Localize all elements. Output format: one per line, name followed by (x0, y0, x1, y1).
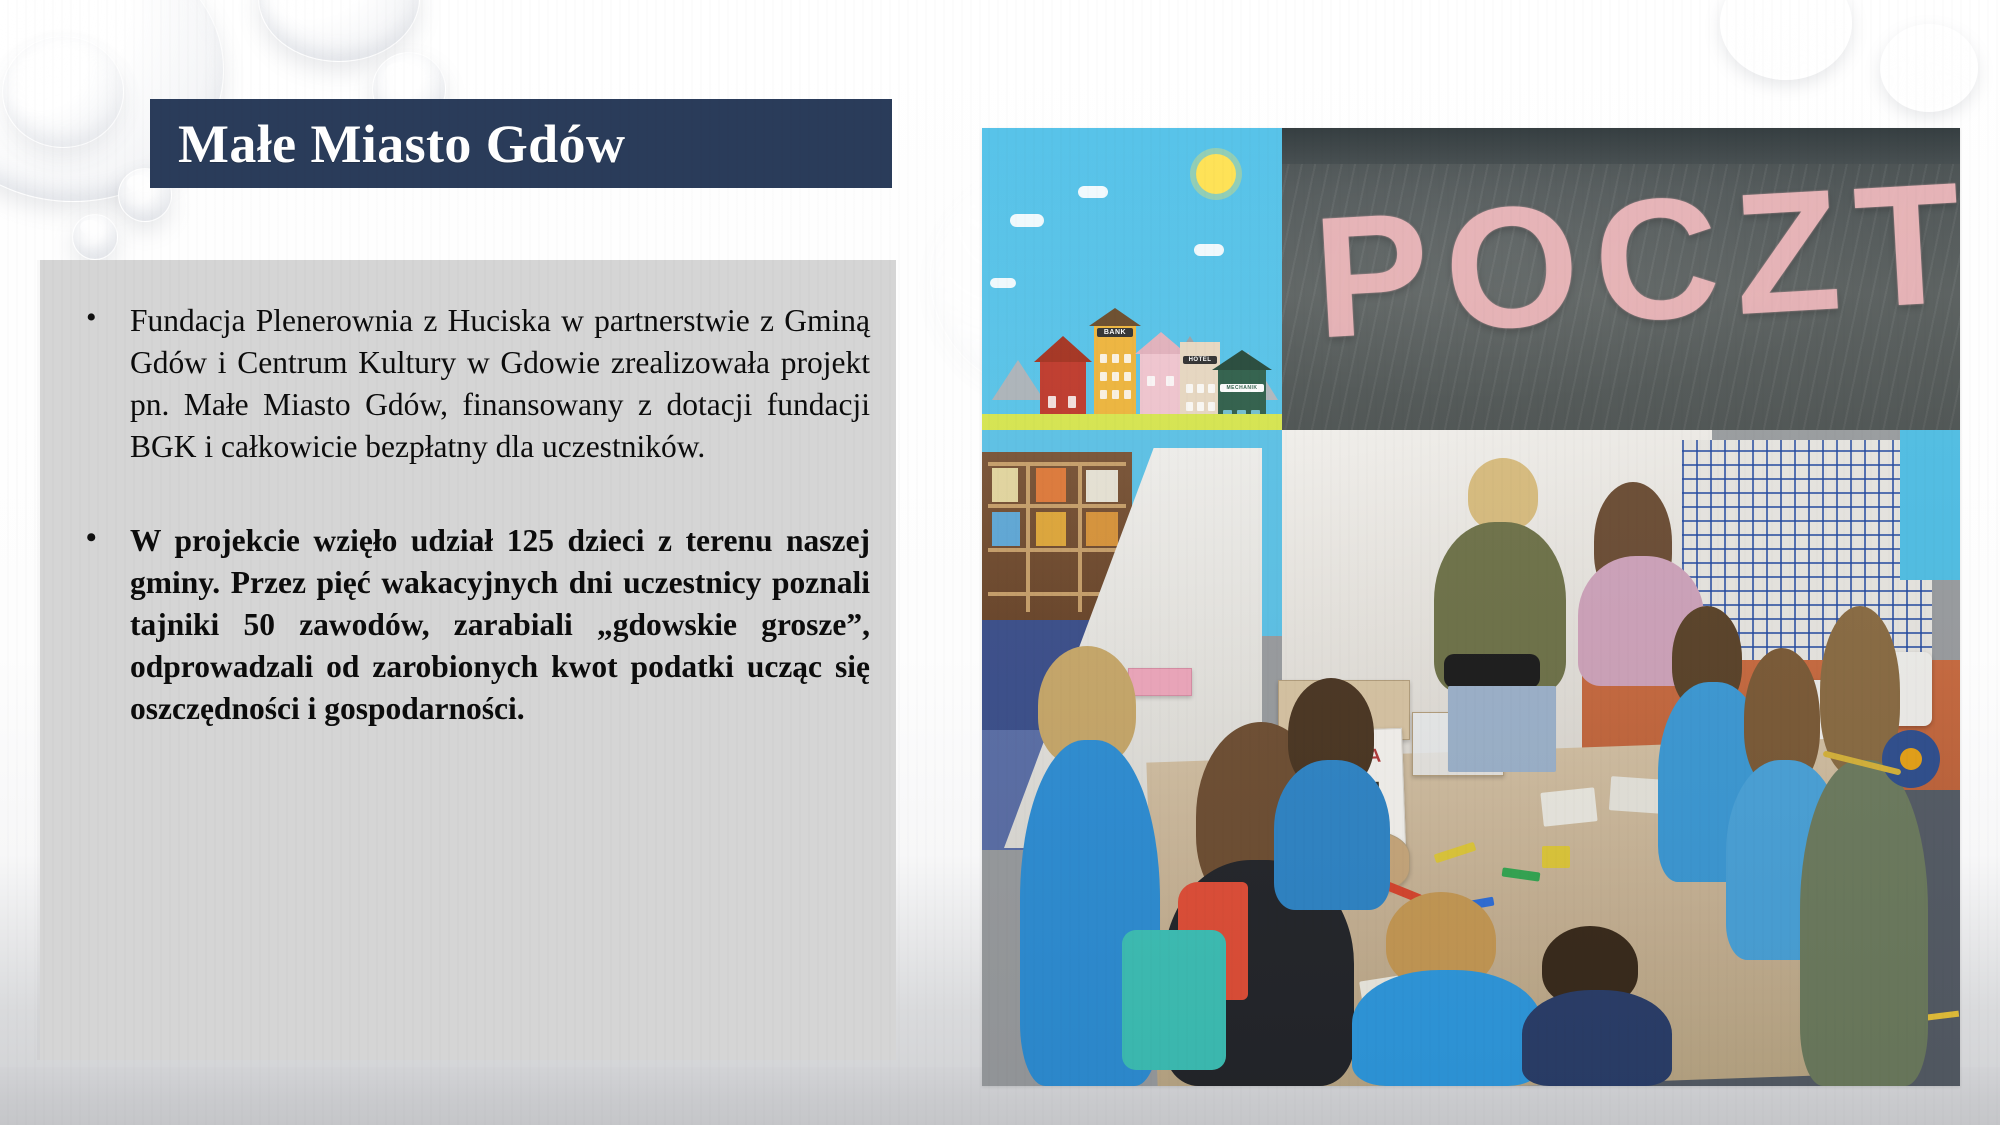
bubble-decoration (1720, 0, 1852, 80)
cloud-icon (1078, 186, 1108, 198)
person-child-olive (1800, 760, 1928, 1086)
list-item: Fundacja Plenerownia z Huciska w partner… (70, 300, 870, 468)
bullet-list: Fundacja Plenerownia z Huciska w partner… (40, 260, 896, 730)
content-panel: Fundacja Plenerownia z Huciska w partner… (40, 260, 896, 1060)
bubble-decoration (72, 214, 118, 260)
shop-sign: MECHANIK (1220, 384, 1264, 392)
person-child-blue (1352, 970, 1542, 1086)
backpack (1122, 930, 1226, 1070)
bubble-decoration (1880, 24, 1978, 112)
cloud-icon (1194, 244, 1224, 256)
person-child-navy (1522, 990, 1672, 1086)
belt-bag (1444, 654, 1540, 688)
chalkboard-text: POCZTA (1309, 145, 1949, 378)
page-title-bar: Małe Miasto Gdów (150, 99, 892, 188)
page-title: Małe Miasto Gdów (150, 113, 625, 175)
sun-icon (1196, 154, 1236, 194)
bubble-decoration (2, 36, 124, 148)
paper-sheet (1609, 776, 1665, 814)
blue-wall-right (1900, 430, 1960, 580)
jeans (1448, 686, 1556, 772)
person-child-blue (1274, 760, 1390, 910)
paper-sheet (1540, 787, 1597, 826)
cloud-icon (1010, 214, 1044, 227)
person-hair (1468, 458, 1538, 530)
storage-tray (1128, 668, 1192, 696)
cable-reel-center (1900, 748, 1922, 770)
slide-canvas: Małe Miasto Gdów Fundacja Plenerownia z … (0, 0, 2000, 1125)
photo-malemiasto-poczta: DENTYSTA BANK (982, 128, 1960, 1086)
bubble-decoration (258, 0, 420, 62)
shop-sign: BANK (1097, 328, 1133, 337)
list-item: W projekcie wzięło udział 125 dzieci z t… (70, 520, 870, 730)
stamp-tool (1542, 846, 1570, 868)
workshop-scene: POCZTA (982, 430, 1960, 1086)
chalkboard: POCZTA (1282, 128, 1960, 430)
